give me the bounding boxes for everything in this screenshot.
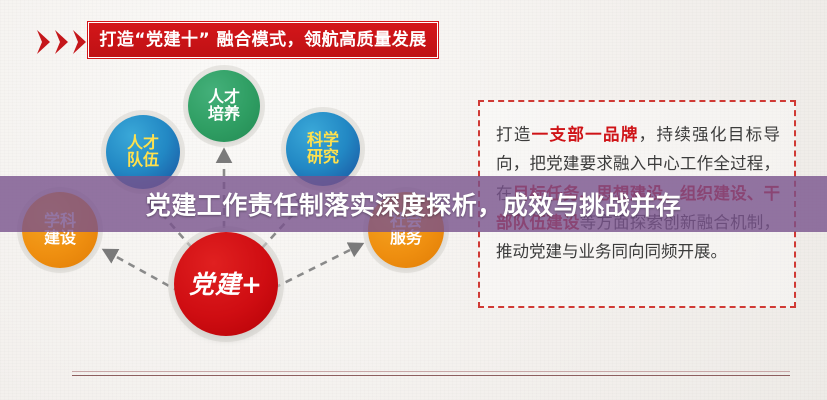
header-banner: 打造“党建十” 融合模式，领航高质量发展 [88,22,438,58]
node-label-line2: 培养 [208,106,240,123]
caption-overlay-band: 党建工作责任制落实深度探析，成效与挑战并存 [0,176,827,232]
node-label-line1: 人才 [127,135,159,152]
footer-rule-top [72,371,790,372]
diagram-node-center-party-building-plus[interactable]: 党建+ [174,232,278,336]
node-label-line1: 人才 [208,89,240,106]
caption-overlay-text: 党建工作责任制落实深度探析，成效与挑战并存 [146,186,682,222]
poster-canvas: 打造“党建十” 融合模式，领航高质量发展 人才 培养 人才 队伍 科学 研究 学… [0,0,827,400]
node-label-line2: 服务 [390,230,422,247]
header-banner-text: 打造“党建十” 融合模式，领航高质量发展 [99,23,426,57]
diagram-node-talent-training[interactable]: 人才 培养 [188,70,260,142]
diagram-node-science-research[interactable]: 科学 研究 [286,112,360,186]
chevron-right-icon [72,29,89,55]
chevron-right-icon [54,29,71,55]
chevron-right-icon [36,29,53,55]
paragraph-segment-1: 打造 [496,125,532,144]
node-label-line2: 研究 [307,149,339,166]
connector-to-social-service [274,244,362,288]
connector-to-discipline-build [104,250,180,292]
paragraph-highlight-1: 一支部一品牌 [532,125,639,144]
node-label-line2: 建设 [44,230,76,247]
footer-rule-bottom [72,375,790,376]
center-node-label: 党建+ [189,271,263,298]
node-label-line2: 队伍 [127,152,159,169]
node-label-line1: 科学 [307,132,339,149]
